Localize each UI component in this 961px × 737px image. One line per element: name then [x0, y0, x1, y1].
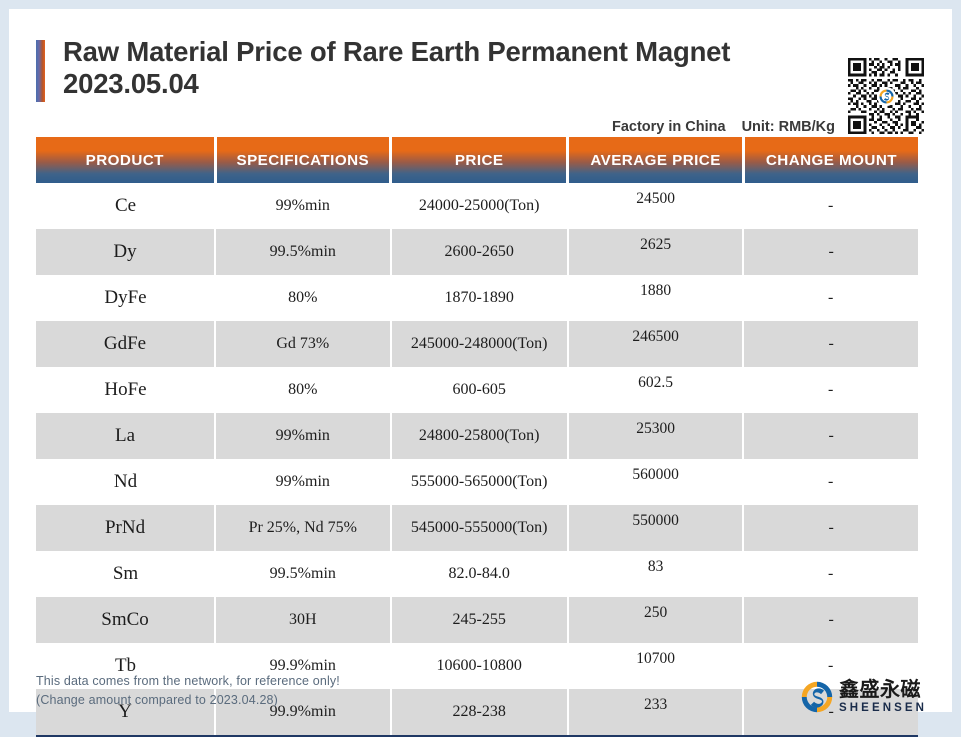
cell-price: 10600-10800 [391, 643, 568, 689]
cell-product: DyFe [36, 275, 215, 321]
footer-line-1: This data comes from the network, for re… [36, 672, 340, 691]
table-row: SmCo 30H 245-255 250 - [36, 597, 918, 643]
sheensen-mark-icon [798, 678, 836, 716]
cell-average-price: 246500 [568, 321, 744, 367]
cell-product: HoFe [36, 367, 215, 413]
cell-average-price: 250 [568, 597, 744, 643]
cell-product: Ce [36, 183, 215, 229]
cell-specifications: Pr 25%, Nd 75% [215, 505, 391, 551]
accent-bar-icon [36, 40, 45, 102]
cell-product: PrNd [36, 505, 215, 551]
cell-specifications: 99.5%min [215, 229, 391, 275]
title-block: Raw Material Price of Rare Earth Permane… [36, 36, 836, 102]
cell-change-mount: - [743, 505, 918, 551]
cell-average-price: 24500 [568, 183, 744, 229]
footer-note: This data comes from the network, for re… [36, 672, 340, 710]
cell-price: 24800-25800(Ton) [391, 413, 568, 459]
cell-price: 245-255 [391, 597, 568, 643]
cell-change-mount: - [743, 321, 918, 367]
table-row: GdFe Gd 73% 245000-248000(Ton) 246500 - [36, 321, 918, 367]
cell-price: 1870-1890 [391, 275, 568, 321]
table-row: HoFe 80% 600-605 602.5 - [36, 367, 918, 413]
cell-price: 82.0-84.0 [391, 551, 568, 597]
table-row: Sm 99.5%min 82.0-84.0 83 - [36, 551, 918, 597]
footer-line-2: (Change amount compared to 2023.04.28) [36, 691, 340, 710]
cell-price: 228-238 [391, 689, 568, 735]
cell-specifications: 99%min [215, 413, 391, 459]
column-header-change-mount[interactable]: CHANGE MOUNT [743, 137, 918, 183]
meta-info: Factory in ChinaUnit: RMB/Kg [612, 119, 835, 135]
cell-specifications: 99%min [215, 183, 391, 229]
brand-logo: 鑫盛永磁 SHEENSEN [798, 678, 927, 716]
cell-specifications: 30H [215, 597, 391, 643]
cell-change-mount: - [743, 551, 918, 597]
cell-average-price: 10700 [568, 643, 744, 689]
cell-product: Sm [36, 551, 215, 597]
cell-change-mount: - [743, 275, 918, 321]
cell-change-mount: - [743, 229, 918, 275]
factory-label: Factory in China [612, 119, 726, 135]
cell-price: 600-605 [391, 367, 568, 413]
cell-change-mount: - [743, 183, 918, 229]
table-header: PRODUCT SPECIFICATIONS PRICE AVERAGE PRI… [36, 137, 918, 183]
table-row: Nd 99%min 555000-565000(Ton) 560000 - [36, 459, 918, 505]
cell-average-price: 550000 [568, 505, 744, 551]
cell-product: SmCo [36, 597, 215, 643]
cell-price: 245000-248000(Ton) [391, 321, 568, 367]
cell-change-mount: - [743, 413, 918, 459]
table-body: Ce 99%min 24000-25000(Ton) 24500 - Dy 99… [36, 183, 918, 735]
sheensen-mark-small-icon [878, 88, 895, 105]
page-title: Raw Material Price of Rare Earth Permane… [63, 36, 730, 101]
table-row: PrNd Pr 25%, Nd 75% 545000-555000(Ton) 5… [36, 505, 918, 551]
table-row: La 99%min 24800-25800(Ton) 25300 - [36, 413, 918, 459]
cell-change-mount: - [743, 367, 918, 413]
cell-price: 24000-25000(Ton) [391, 183, 568, 229]
cell-product: Dy [36, 229, 215, 275]
cell-price: 545000-555000(Ton) [391, 505, 568, 551]
cell-average-price: 602.5 [568, 367, 744, 413]
brand-text: 鑫盛永磁 SHEENSEN [839, 679, 927, 715]
column-header-product[interactable]: PRODUCT [36, 137, 215, 183]
table-row: DyFe 80% 1870-1890 1880 - [36, 275, 918, 321]
brand-name-en: SHEENSEN [839, 703, 927, 715]
column-header-price[interactable]: PRICE [391, 137, 568, 183]
column-header-average-price[interactable]: AVERAGE PRICE [568, 137, 744, 183]
cell-change-mount: - [743, 597, 918, 643]
cell-average-price: 233 [568, 689, 744, 735]
cell-average-price: 25300 [568, 413, 744, 459]
cell-specifications: Gd 73% [215, 321, 391, 367]
unit-label: Unit: RMB/Kg [742, 119, 835, 135]
cell-price: 2600-2650 [391, 229, 568, 275]
cell-specifications: 80% [215, 367, 391, 413]
price-table: PRODUCT SPECIFICATIONS PRICE AVERAGE PRI… [36, 137, 918, 735]
cell-specifications: 99.5%min [215, 551, 391, 597]
cell-price: 555000-565000(Ton) [391, 459, 568, 505]
qr-code[interactable] [848, 58, 924, 134]
cell-average-price: 83 [568, 551, 744, 597]
qr-center-logo-icon [877, 87, 896, 106]
cell-change-mount: - [743, 459, 918, 505]
cell-average-price: 2625 [568, 229, 744, 275]
cell-product: GdFe [36, 321, 215, 367]
column-header-specifications[interactable]: SPECIFICATIONS [215, 137, 391, 183]
brand-name-cn: 鑫盛永磁 [839, 679, 927, 699]
table-row: Dy 99.5%min 2600-2650 2625 - [36, 229, 918, 275]
cell-specifications: 80% [215, 275, 391, 321]
report-card: Raw Material Price of Rare Earth Permane… [9, 9, 952, 712]
table-row: Ce 99%min 24000-25000(Ton) 24500 - [36, 183, 918, 229]
price-table-wrapper: PRODUCT SPECIFICATIONS PRICE AVERAGE PRI… [36, 137, 918, 737]
cell-average-price: 560000 [568, 459, 744, 505]
cell-average-price: 1880 [568, 275, 744, 321]
cell-specifications: 99%min [215, 459, 391, 505]
cell-product: La [36, 413, 215, 459]
table-header-row: PRODUCT SPECIFICATIONS PRICE AVERAGE PRI… [36, 137, 918, 183]
cell-product: Nd [36, 459, 215, 505]
